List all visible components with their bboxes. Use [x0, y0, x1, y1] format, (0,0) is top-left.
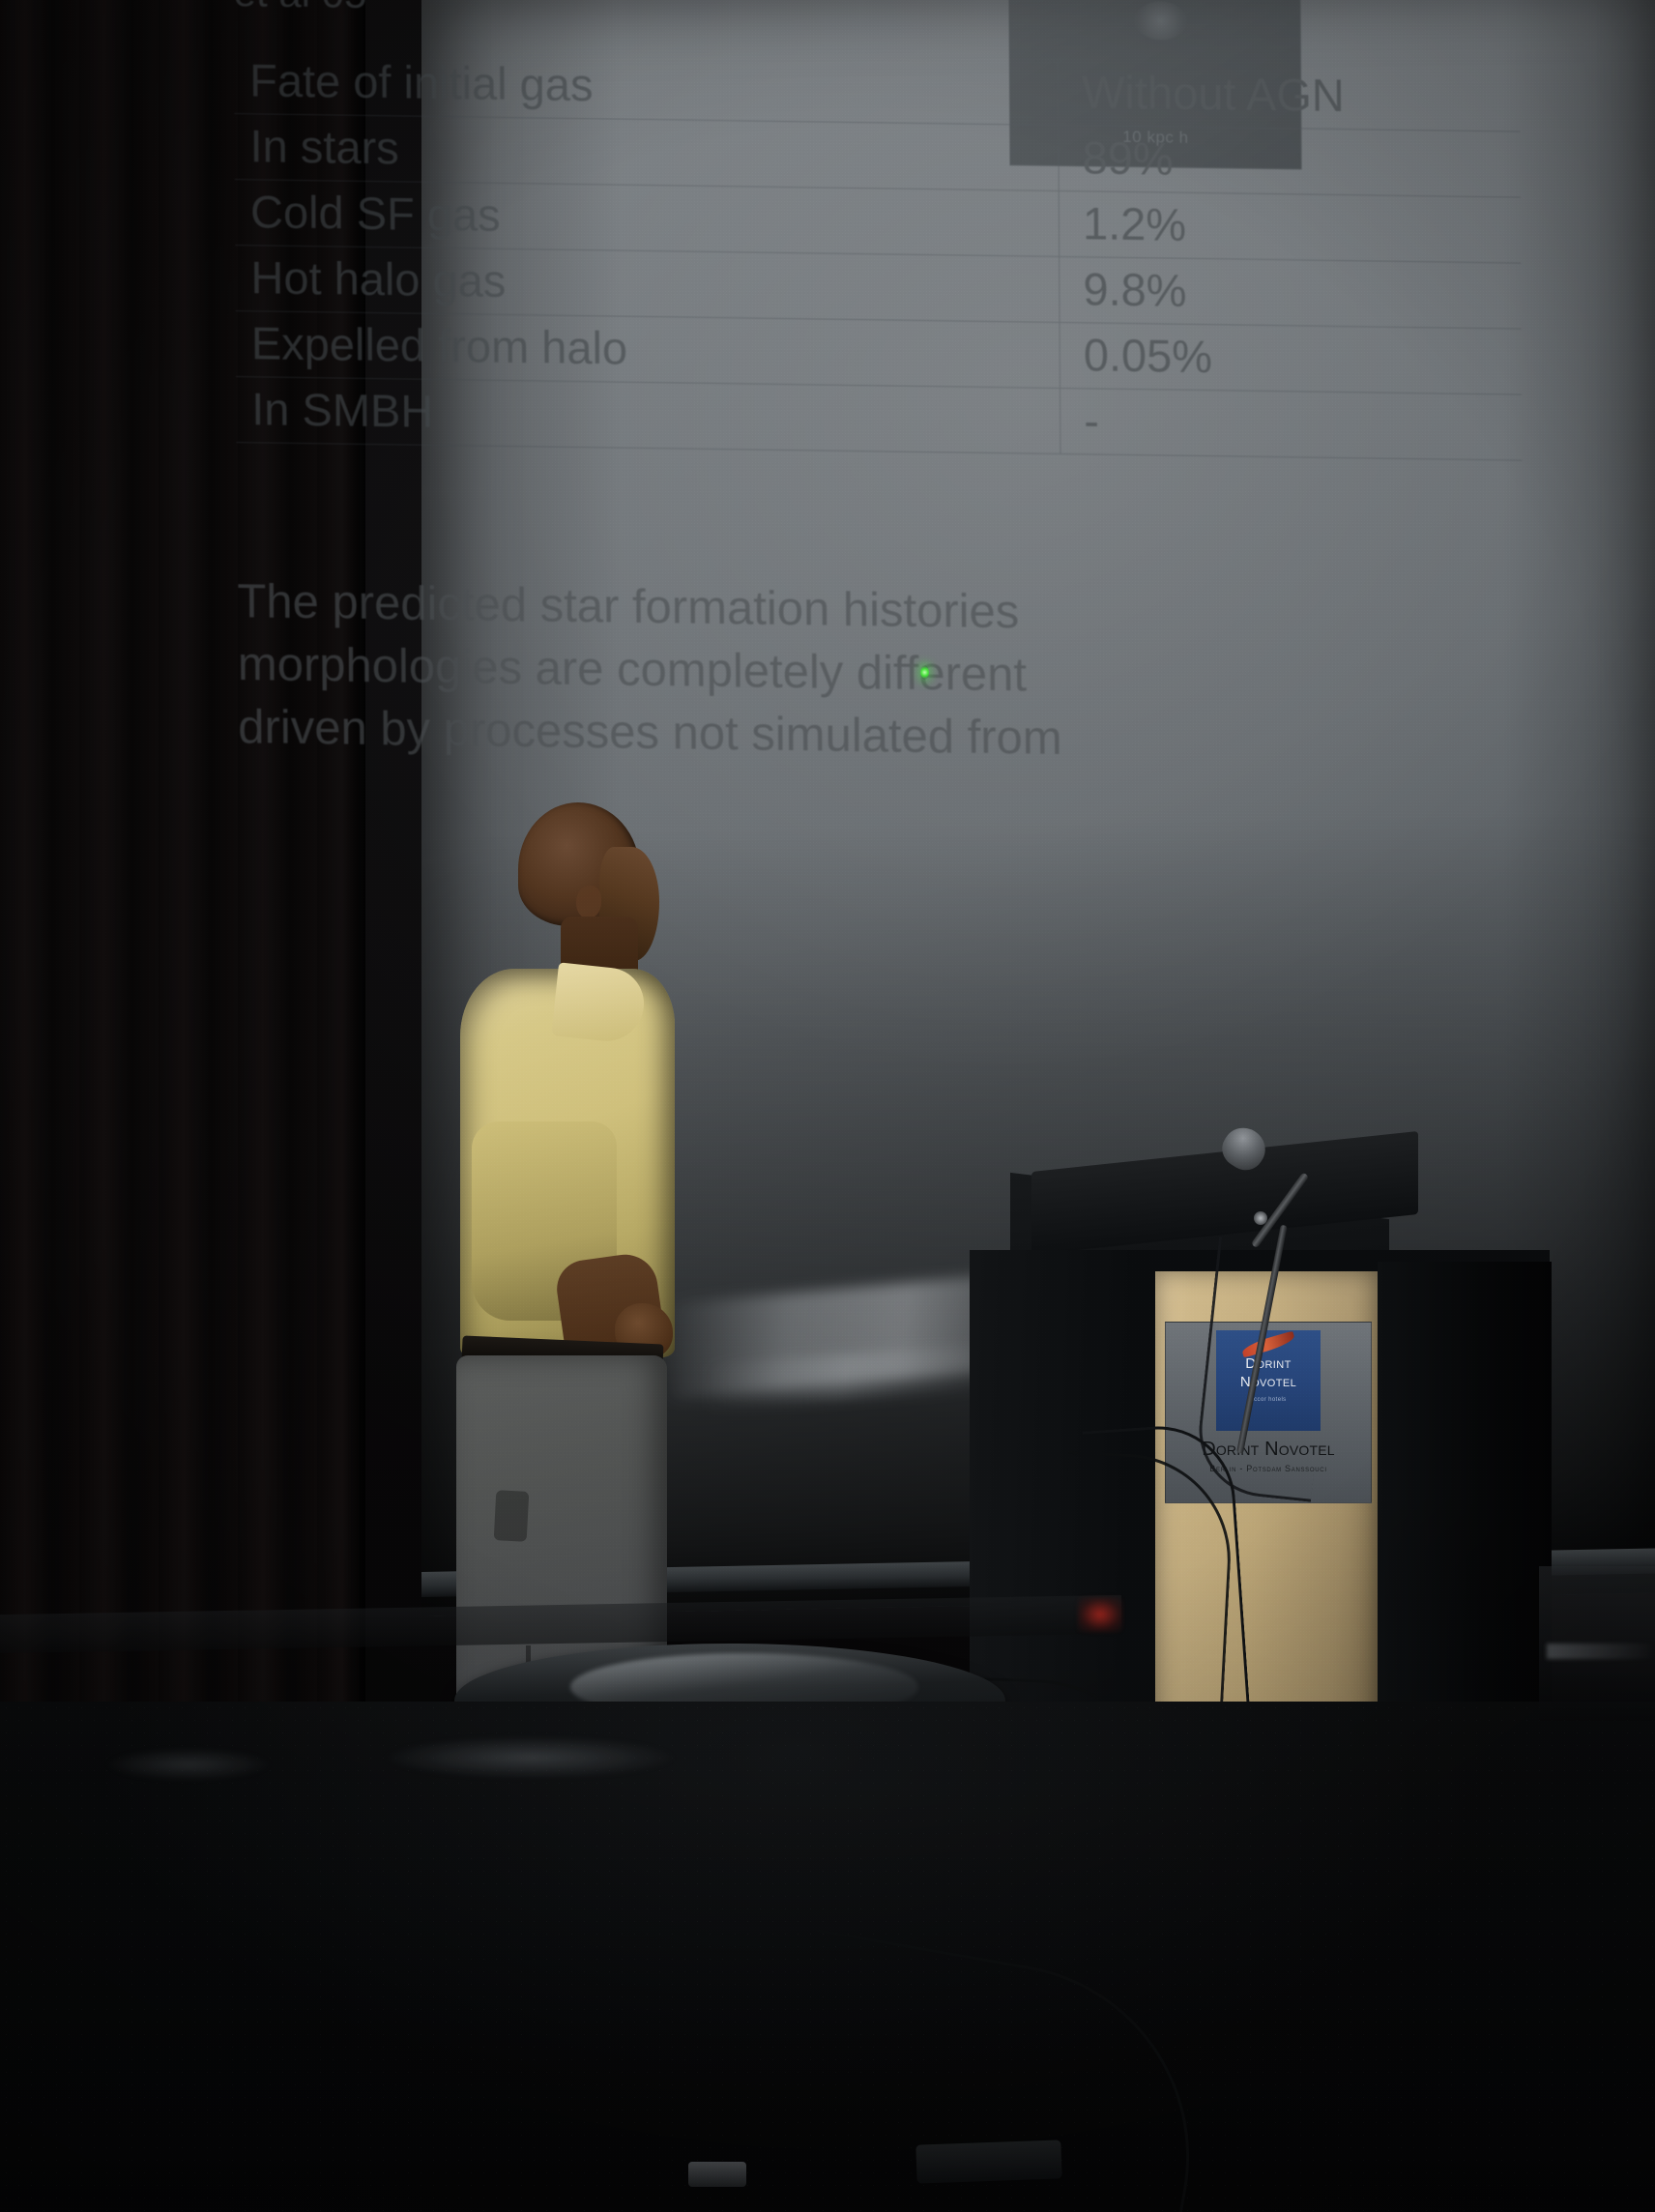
row-label-cold-sf-gas: Cold SF gas: [235, 180, 1060, 257]
microphone-clip: [1254, 1211, 1267, 1225]
speaker-ear: [576, 886, 601, 918]
col-header-fate: Fate of initial gas: [234, 48, 1059, 125]
row-label-in-smbh: In SMBH: [236, 377, 1060, 454]
floor-tape-marker: [688, 2162, 746, 2187]
row-value-in-smbh: -: [1060, 388, 1523, 460]
floor-power-box: [915, 2139, 1061, 2183]
floor-light-pool-secondary: [106, 1748, 271, 1781]
slide-reference: et al 05: [233, 0, 366, 17]
galaxy-core-glow: [1135, 1, 1187, 41]
col-header-without-agn: Without AGN: [1058, 60, 1520, 131]
speaker-trouser-pocket: [494, 1490, 530, 1542]
laser-pointer-dot: [920, 665, 929, 680]
row-value-in-stars: 89%: [1059, 125, 1521, 197]
slide-data-table: Fate of initial gas Without AGN In stars…: [234, 48, 1522, 461]
slide-bullet-text: The predicted star formation histories m…: [237, 570, 1591, 778]
row-label-hot-halo-gas: Hot halo gas: [235, 246, 1060, 323]
row-label-expelled-from-halo: Expelled from halo: [236, 311, 1060, 389]
photo-canvas: et al 05 10 kpc h Fate of initial gas Wi…: [0, 0, 1655, 2212]
red-indicator-light: [1078, 1597, 1122, 1632]
floor-light-pool: [385, 1736, 675, 1779]
row-value-hot-halo-gas: 9.8%: [1060, 256, 1522, 329]
row-value-expelled-from-halo: 0.05%: [1060, 322, 1522, 394]
row-label-in-stars: In stars: [234, 114, 1059, 191]
projected-slide: et al 05 10 kpc h Fate of initial gas Wi…: [232, 0, 1650, 881]
right-highlight-strip: [1547, 1644, 1655, 1659]
row-value-cold-sf-gas: 1.2%: [1059, 190, 1521, 263]
